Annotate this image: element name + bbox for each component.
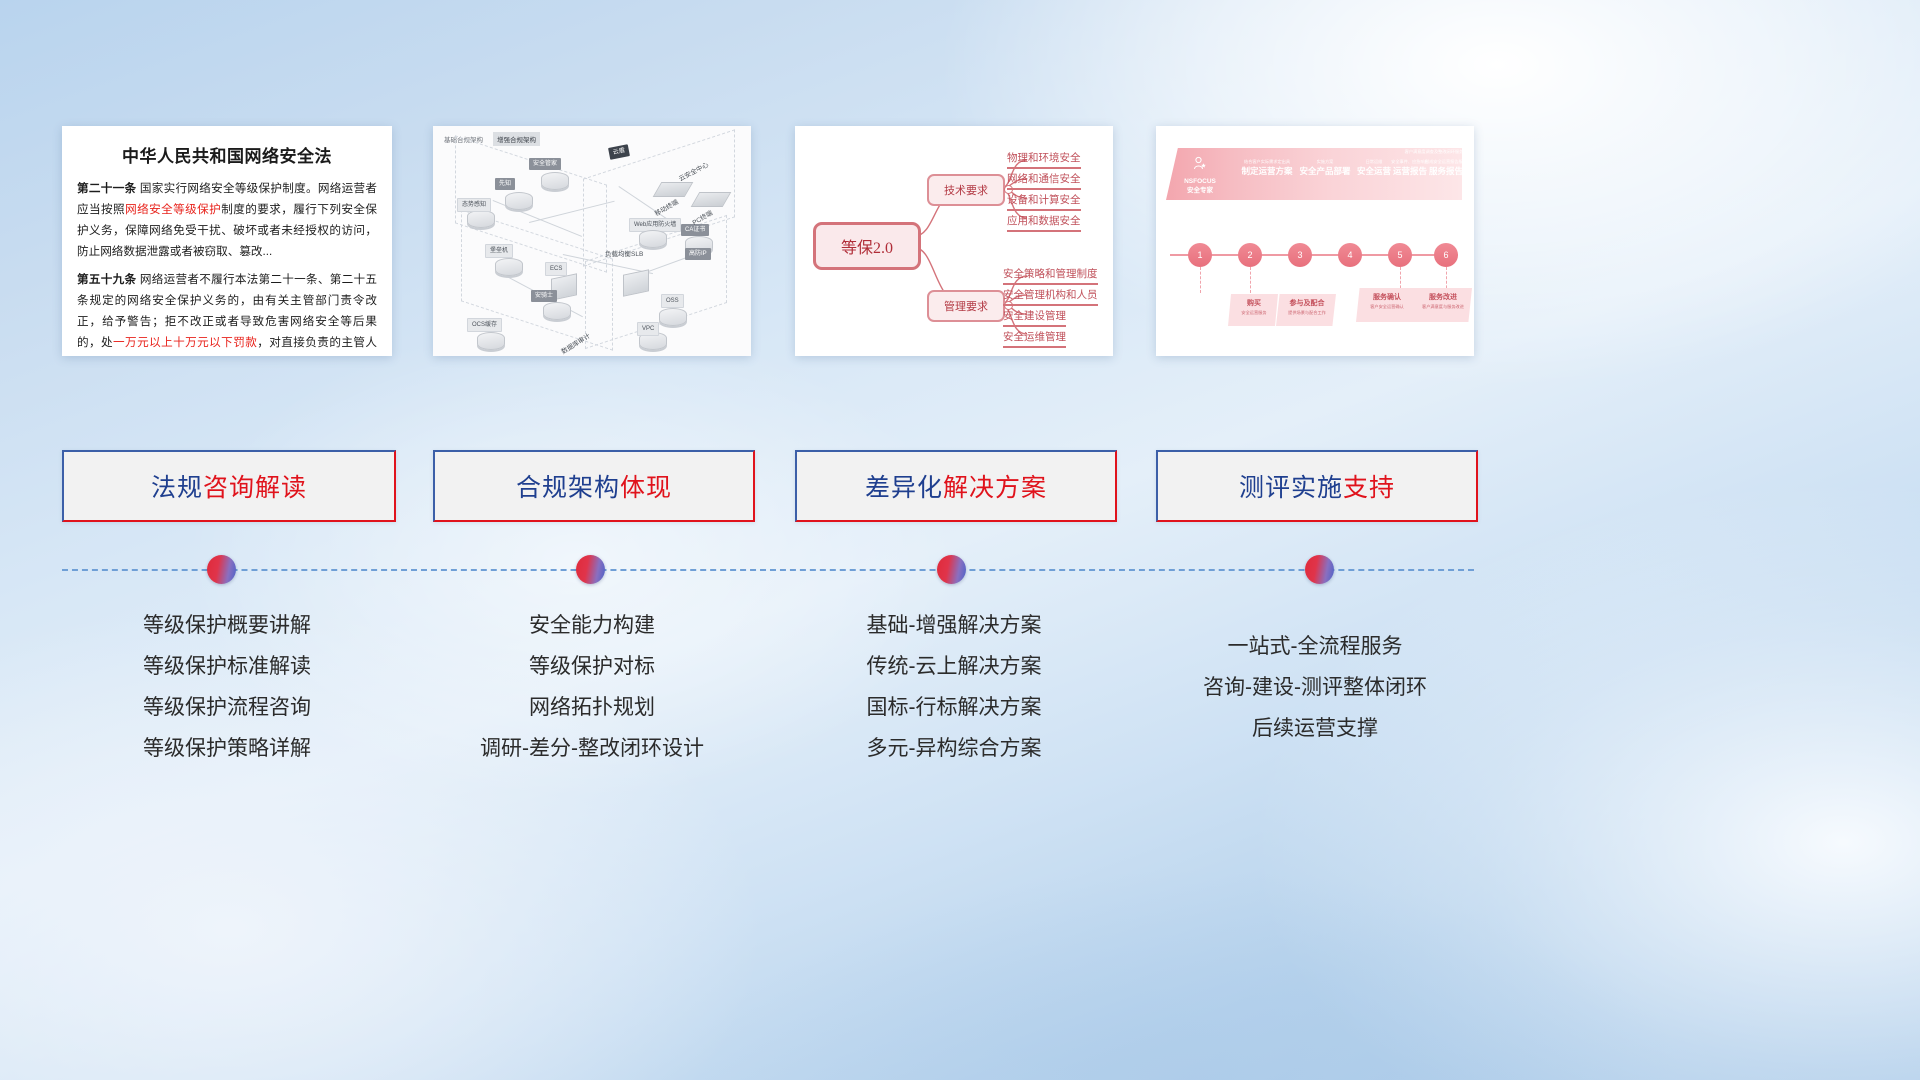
node-icon (477, 332, 505, 350)
mindmap-leaf: 安全建设管理 (1003, 308, 1066, 327)
nsfocus-step-number: 4 (1338, 243, 1362, 267)
architecture-canvas: 基础合规架构 增强合规架构 态势感知 先知 安全管家 云盾 堡垒机 (433, 126, 751, 356)
node-label-anquanguanjia: 安全管家 (529, 158, 561, 170)
nsfocus-chip: 服务确认 客户安全运营确认 (1356, 288, 1416, 322)
mindmap-leaf: 网络和通信安全 (1007, 171, 1081, 190)
architecture-tab-enhanced[interactable]: 增强合规架构 (493, 132, 540, 146)
bullet-column-1: 等级保护概要讲解 等级保护标准解读 等级保护流程咨询 等级保护策略详解 (62, 605, 392, 769)
list-item: 基础-增强解决方案 (795, 605, 1113, 646)
nsfocus-chip: 参与及配合 提供场景与配合工作 (1276, 294, 1336, 326)
nsfocus-step-sub: 客户满意度调查及整改闭环服务 (1400, 148, 1468, 155)
heading-red-part: 体现 (620, 474, 672, 502)
mindmap-root-node: 等保2.0 (813, 222, 921, 270)
list-item: 国标-行标解决方案 (795, 687, 1113, 728)
heading-text-2: 合规架构体现 (516, 468, 672, 504)
nsfocus-chip: 购买 安全运营服务 (1228, 294, 1278, 326)
node-label-oss: OSS (661, 294, 684, 308)
heading-box-2[interactable]: 合规架构体现 (433, 450, 755, 522)
heading-blue-part: 测评实施 (1239, 474, 1343, 502)
list-item: 多元-异构综合方案 (795, 728, 1113, 769)
nsfocus-chip: 服务改进 客户满意度与服务改进 (1412, 288, 1472, 322)
nsfocus-step-main: 安全产品部署 (1296, 165, 1354, 177)
heading-blue-part: 法规 (151, 474, 203, 502)
law-title: 中华人民共和国网络安全法 (77, 142, 377, 167)
mindmap-branch-management: 管理要求 (927, 290, 1005, 322)
node-icon (695, 192, 727, 207)
law-article-number: 第二十一条 (77, 182, 136, 195)
nsfocus-step-note: 客户满意度调查及整改闭环服务 (1400, 148, 1468, 155)
nsfocus-canvas: NSFOCUS 安全专家 结合客户实际需求定出具 制定运营方案 实施方案 安全产… (1156, 126, 1474, 356)
list-item: 等级保护流程咨询 (62, 687, 392, 728)
heading-blue-part: 差异化 (865, 474, 943, 502)
timeline-dot-4[interactable] (1305, 555, 1334, 584)
nsfocus-tick (1250, 267, 1252, 293)
node-label-anqishi: 安骑士 (531, 290, 557, 302)
nsfocus-chip-title: 购买 (1232, 298, 1276, 309)
heading-red-part: 咨询解读 (203, 474, 307, 502)
nsfocus-step-number: 3 (1288, 243, 1312, 267)
nsfocus-chip-sub: 安全运营服务 (1232, 309, 1276, 316)
list-item: 等级保护概要讲解 (62, 605, 392, 646)
node-label-situational: 态势感知 (457, 198, 491, 212)
node-icon (467, 210, 495, 228)
bullet-column-3: 基础-增强解决方案 传统-云上解决方案 国标-行标解决方案 多元-异构综合方案 (795, 605, 1113, 769)
node-label-bastion: 堡垒机 (485, 244, 513, 258)
node-label-slb: 负载均衡SLB (605, 248, 643, 258)
heading-text-1: 法规咨询解读 (151, 468, 307, 504)
nsfocus-step-number: 6 (1434, 243, 1458, 267)
node-label-yundun: 云盾 (608, 144, 630, 160)
nsfocus-axis (1170, 254, 1458, 256)
nsfocus-step: 形成安全运营报告服务 服务报告 (1424, 158, 1468, 177)
heading-red-part: 解决方案 (943, 474, 1047, 502)
nsfocus-step-main: 制定运营方案 (1236, 165, 1298, 177)
mindmap-card: 等保2.0 技术要求 物理和环境安全 网络和通信安全 设备和计算安全 应用和数据… (795, 126, 1113, 356)
list-item: 咨询-建设-测评整体闭环 (1156, 667, 1474, 708)
nsfocus-step: 实施方案 安全产品部署 (1296, 158, 1354, 177)
list-item: 等级保护标准解读 (62, 646, 392, 687)
node-icon (659, 308, 687, 326)
nsfocus-step-main: 服务报告 (1424, 165, 1468, 177)
person-star-icon (1192, 156, 1208, 172)
architecture-diagram-card: 基础合规架构 增强合规架构 态势感知 先知 安全管家 云盾 堡垒机 (433, 126, 751, 356)
nsfocus-chip-title: 服务改进 (1416, 292, 1470, 303)
node-icon (657, 182, 689, 197)
node-label-xianzhi: 先知 (495, 178, 515, 190)
nsfocus-timeline-card: NSFOCUS 安全专家 结合客户实际需求定出具 制定运营方案 实施方案 安全产… (1156, 126, 1474, 356)
law-run-highlight: 网络安全等级保护 (125, 203, 221, 216)
nsfocus-step-number: 2 (1238, 243, 1262, 267)
nsfocus-tick (1200, 267, 1202, 293)
heading-box-4[interactable]: 测评实施支持 (1156, 450, 1478, 522)
mindmap-branch-technical: 技术要求 (927, 174, 1005, 206)
nsfocus-step-number: 5 (1388, 243, 1412, 267)
nsfocus-chip-title: 参与及配合 (1280, 298, 1334, 309)
heading-text-4: 测评实施支持 (1239, 468, 1395, 504)
list-item: 调研-差分-整改闭环设计 (433, 728, 751, 769)
nsfocus-chip-title: 服务确认 (1360, 292, 1414, 303)
mindmap-leaf: 物理和环境安全 (1007, 150, 1081, 169)
list-item: 等级保护对标 (433, 646, 751, 687)
nsfocus-step-number: 1 (1188, 243, 1212, 267)
heading-blue-part: 合规架构 (516, 474, 620, 502)
law-document-body: 中华人民共和国网络安全法 第二十一条 国家实行网络安全等级保护制度。网络运营者应… (62, 126, 392, 356)
mindmap-leaf: 安全运维管理 (1003, 329, 1066, 348)
nsfocus-step: 结合客户实际需求定出具 制定运营方案 (1236, 158, 1298, 177)
heading-red-part: 支持 (1343, 474, 1395, 502)
mindmap-leaf: 安全策略和管理制度 (1003, 266, 1098, 285)
list-item: 后续运营支撑 (1156, 708, 1474, 749)
mindmap-leaf: 安全管理机构和人员 (1003, 287, 1098, 306)
timeline-dot-3[interactable] (937, 555, 966, 584)
node-label-vpc: VPC (637, 322, 659, 336)
heading-text-3: 差异化解决方案 (865, 468, 1047, 504)
nsfocus-step-sub: 结合客户实际需求定出具 (1236, 158, 1298, 165)
heading-box-1[interactable]: 法规咨询解读 (62, 450, 396, 522)
list-item: 一站式-全流程服务 (1156, 626, 1474, 667)
node-icon (505, 192, 533, 210)
nsfocus-step-sub: 实施方案 (1296, 158, 1354, 165)
timeline-dashed-line (62, 569, 1474, 571)
nsfocus-chip-sub: 客户满意度与服务改进 (1416, 303, 1470, 310)
node-icon (495, 258, 523, 276)
nsfocus-step-sub: 形成安全运营报告服务 (1424, 158, 1468, 165)
timeline-dot-1[interactable] (207, 555, 236, 584)
bullet-column-4: 一站式-全流程服务 咨询-建设-测评整体闭环 后续运营支撑 (1156, 626, 1474, 749)
list-item: 安全能力构建 (433, 605, 751, 646)
mindmap-leaf: 设备和计算安全 (1007, 192, 1081, 211)
nsfocus-brand: NSFOCUS (1174, 177, 1226, 186)
heading-box-3[interactable]: 差异化解决方案 (795, 450, 1117, 522)
node-icon (623, 272, 649, 294)
timeline-dot-2[interactable] (576, 555, 605, 584)
nsfocus-expert-badge: NSFOCUS 安全专家 (1174, 156, 1226, 195)
law-document-card: 中华人民共和国网络安全法 第二十一条 国家实行网络安全等级保护制度。网络运营者应… (62, 126, 392, 356)
mindmap-canvas: 等保2.0 技术要求 物理和环境安全 网络和通信安全 设备和计算安全 应用和数据… (795, 126, 1113, 356)
law-paragraph-21: 第二十一条 国家实行网络安全等级保护制度。网络运营者应当按照网络安全等级保护制度… (77, 178, 377, 262)
node-icon (543, 302, 571, 320)
law-article-number: 第五十九条 (77, 273, 136, 286)
node-icon (541, 172, 569, 190)
nsfocus-chip-sub: 提供场景与配合工作 (1280, 309, 1334, 316)
law-paragraph-59: 第五十九条 网络运营者不履行本法第二十一条、第二十五条规定的网络安全保护义务的，… (77, 269, 377, 356)
nsfocus-chip-sub: 客户安全运营确认 (1360, 303, 1414, 310)
law-run-highlight: 一万元以上十万元以下罚款 (113, 336, 257, 349)
node-icon (639, 230, 667, 248)
bullet-column-2: 安全能力构建 等级保护对标 网络拓扑规划 调研-差分-整改闭环设计 (433, 605, 751, 769)
node-label-ecs: ECS (545, 262, 567, 276)
node-label-highdefense-ip: 高防IP (685, 248, 711, 260)
node-label-ocs: OCS缓存 (467, 318, 502, 332)
list-item: 传统-云上解决方案 (795, 646, 1113, 687)
list-item: 网络拓扑规划 (433, 687, 751, 728)
nsfocus-role: 安全专家 (1174, 186, 1226, 195)
list-item: 等级保护策略详解 (62, 728, 392, 769)
image-card-row: 中华人民共和国网络安全法 第二十一条 国家实行网络安全等级保护制度。网络运营者应… (0, 0, 1920, 430)
mindmap-leaf: 应用和数据安全 (1007, 213, 1081, 232)
